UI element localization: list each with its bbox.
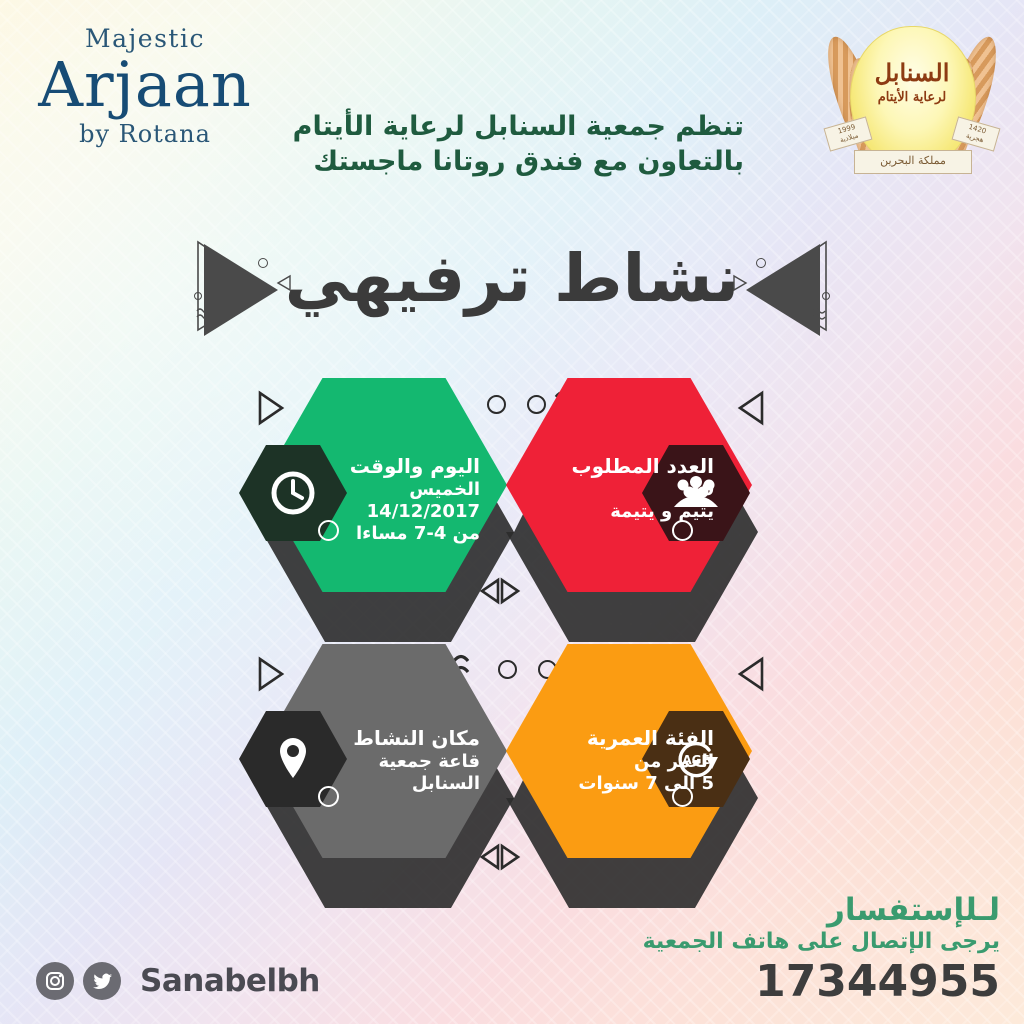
card-corner-triangle-gray [256,656,286,692]
headline-line-1: تنظم جمعية السنابل لرعاية الأيتام [264,110,744,145]
title-right-mini-triangle [732,274,748,292]
footer-heading: لـلإستفسار [570,892,1000,928]
card-gray-line2: قاعة جمعية [300,751,480,773]
card-red-line1: العدد المطلوب [514,454,714,478]
card-text-red: العدد المطلوب 30 يتيم و يتيمة [514,454,714,523]
card-orange-line2: العمر من [514,751,714,773]
social-links: Sanabelbh [36,962,320,1000]
card-red-line2: 30 [514,479,714,501]
card-corner-triangle-orange [736,656,766,692]
instagram-button[interactable] [36,962,74,1000]
card-gray-line1: مكان النشاط [300,726,480,750]
title-triangle-right [732,240,828,336]
page-title: نشاط ترفيهي [0,240,1024,317]
card-green-line1: اليوم والوقت [300,454,480,478]
card-text-gray: مكان النشاط قاعة جمعية السنابل [300,726,480,795]
main-title-row: نشاط ترفيهي [0,236,1024,346]
headline-text: تنظم جمعية السنابل لرعاية الأيتام بالتعا… [264,110,744,179]
card-green-ring [318,520,339,541]
card-orange-ring [672,786,693,807]
brand-arjaan-text: Arjaan [30,55,260,116]
title-right-dot-2 [822,292,830,300]
logo-name: السنابل [814,58,1010,87]
twitter-button[interactable] [83,962,121,1000]
card-text-orange: الفئة العمرية العمر من 5 الى 7 سنوات [514,726,714,795]
logo-country-banner: مملكة البحرين [854,150,972,174]
logo-subtitle: لرعاية الأيتام [814,90,1010,105]
card-corner-triangle-green [256,390,286,426]
card-red-ring [672,520,693,541]
card-green-bottom-triangles [478,576,522,606]
twitter-icon [91,970,114,993]
card-green-line2: الخميس [300,479,480,501]
poster-canvas: Majestic Arjaan by Rotana تنظم جمعية الس… [0,0,1024,1024]
arjaan-brand-logo: Majestic Arjaan by Rotana [30,24,260,148]
decor-ring-top-2 [527,395,546,414]
card-gray-ring [318,786,339,807]
card-gray-bottom-triangles [478,842,522,872]
footer-phone-number[interactable]: 17344955 [570,956,1000,1007]
headline-line-2: بالتعاون مع فندق روتانا ماجستك [264,145,744,180]
contact-footer: لـلإستفسار يرجى الإتصال على هاتف الجمعية… [570,892,1000,1007]
title-triangle-right-solid [746,244,820,336]
instagram-icon [44,970,66,992]
title-right-dot [756,258,766,268]
social-handle: Sanabelbh [140,963,320,999]
card-orange-line1: الفئة العمرية [514,726,714,750]
title-right-squiggle [812,306,828,322]
card-corner-triangle-red [736,390,766,426]
decor-ring-top-1 [487,395,506,414]
sanabel-society-logo: السنابل لرعاية الأيتام 1999 ميلادية 1420… [814,12,1010,188]
info-cards-grid: اليوم والوقت الخميس 14/12/2017 من 4-7 مس… [0,360,1024,900]
brand-by-rotana-text: by Rotana [30,120,260,148]
decor-ring-mid-1 [498,660,517,679]
footer-subheading: يرجى الإتصال على هاتف الجمعية [570,929,1000,954]
